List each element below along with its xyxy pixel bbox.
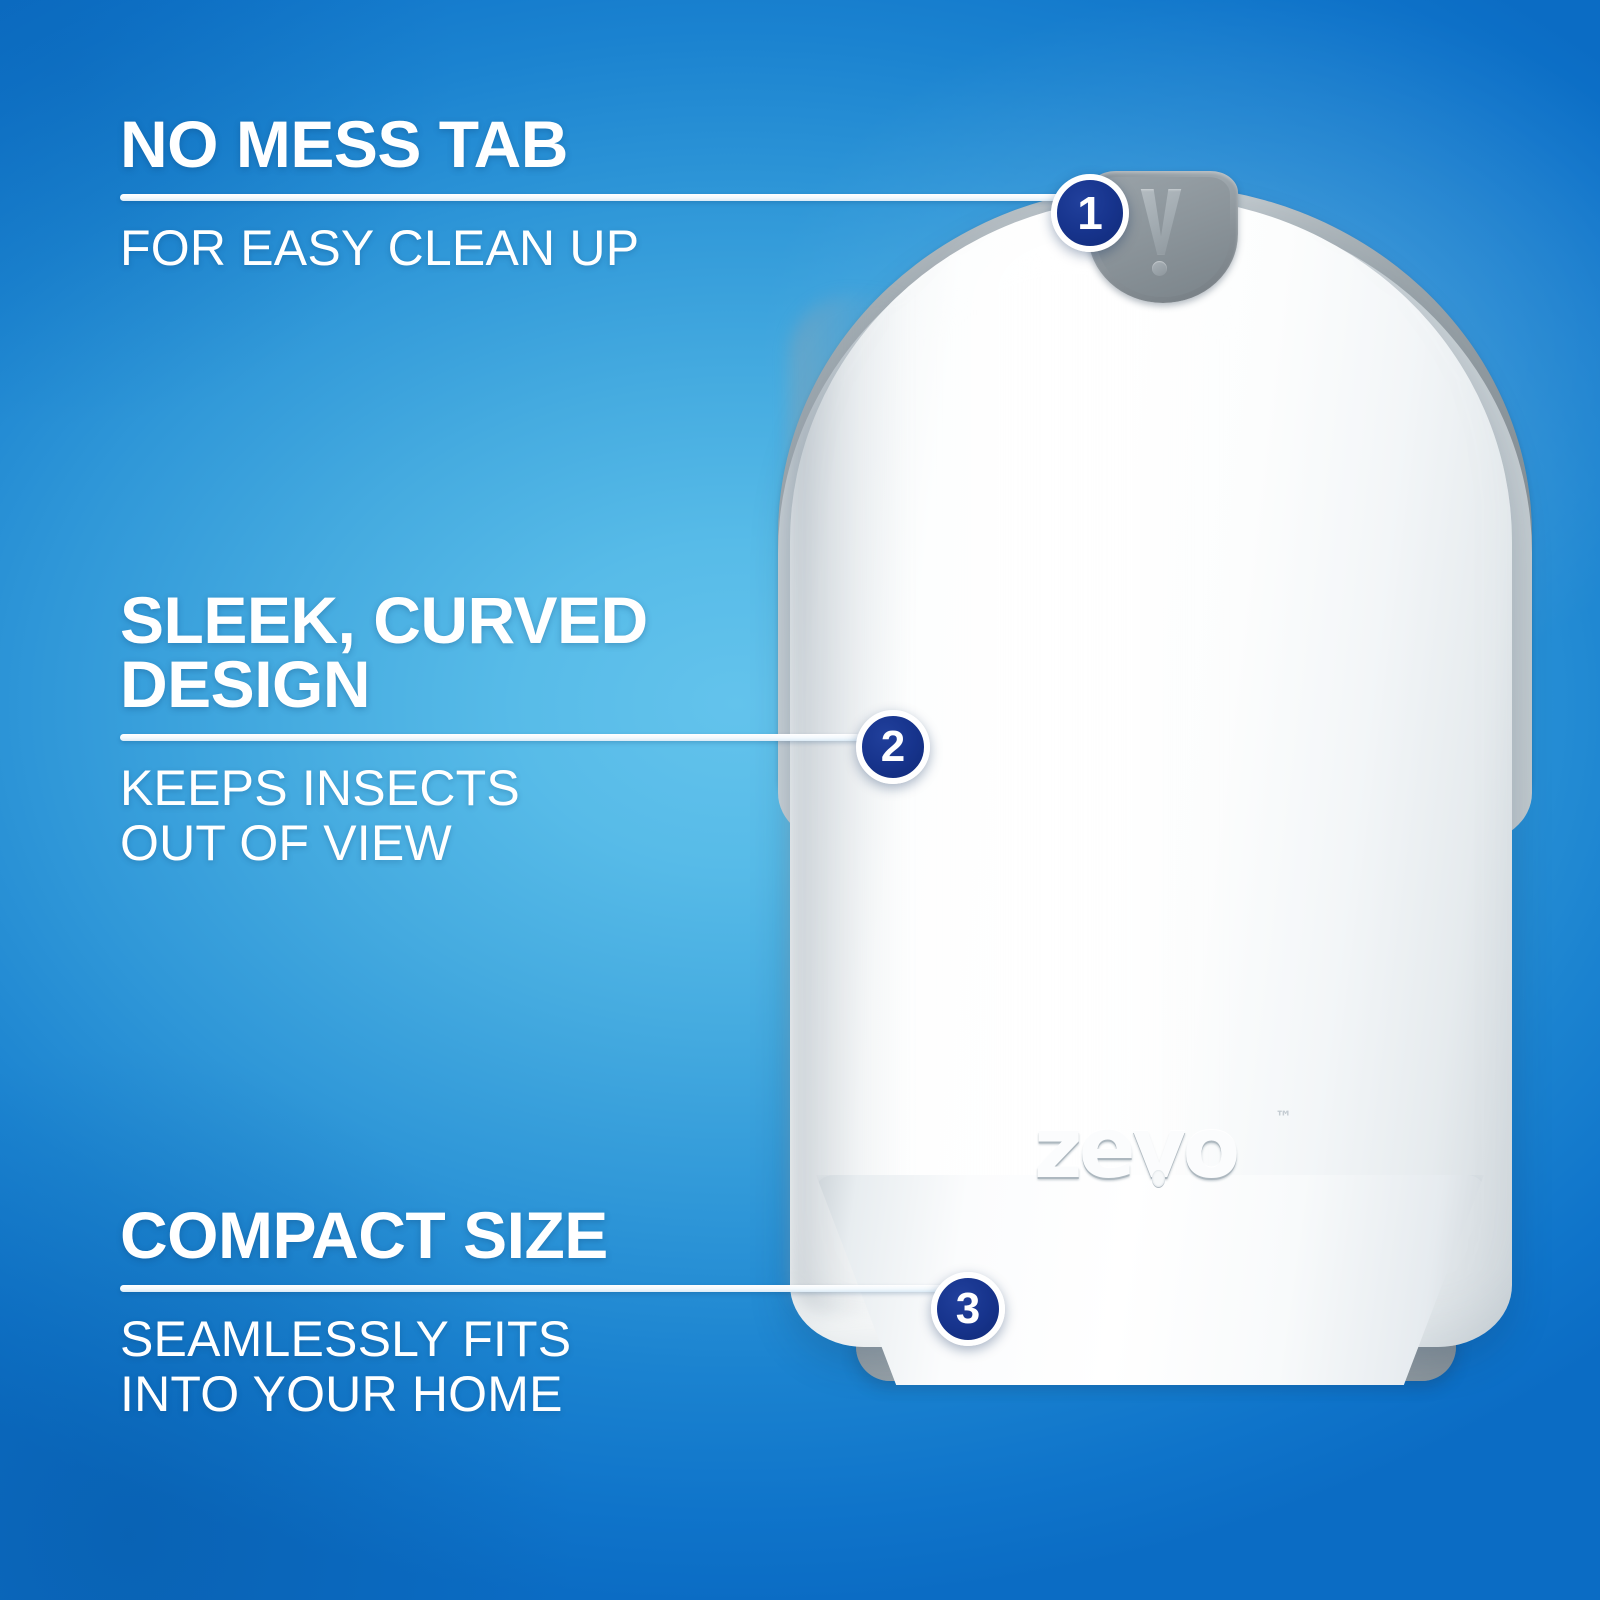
callout-block-1: NO MESS TAB FOR EASY CLEAN UP <box>120 112 1080 276</box>
zevo-drop-dot-icon <box>1152 261 1167 276</box>
callout-2-rule <box>120 734 860 741</box>
callout-1-rule <box>120 194 1080 201</box>
brand-logo-text: zevo <box>1034 1106 1236 1190</box>
callout-badge-3: 3 <box>931 1272 1005 1346</box>
callout-2-headline: SLEEK, CURVED DESIGN <box>120 588 860 716</box>
callout-block-3: COMPACT SIZE SEAMLESSLY FITS INTO YOUR H… <box>120 1203 950 1421</box>
callout-1-headline: NO MESS TAB <box>120 112 1080 176</box>
logo-drop-icon <box>1152 1170 1165 1187</box>
callout-badge-1: 1 <box>1051 174 1129 252</box>
callout-block-2: SLEEK, CURVED DESIGN KEEPS INSECTS OUT O… <box>120 588 860 870</box>
callout-3-subline: SEAMLESSLY FITS INTO YOUR HOME <box>120 1312 950 1421</box>
trademark-icon: ™ <box>1275 1108 1292 1128</box>
callout-1-subline: FOR EASY CLEAN UP <box>120 221 1080 276</box>
product-brand-logo: zevo ™ <box>970 1100 1300 1196</box>
callout-3-headline: COMPACT SIZE <box>120 1203 950 1267</box>
infographic-canvas: zevo ™ NO MESS TAB FOR EASY CLEAN UP 1 S… <box>0 0 1600 1600</box>
callout-3-rule <box>120 1285 950 1292</box>
callout-badge-2: 2 <box>856 710 930 784</box>
callout-2-subline: KEEPS INSECTS OUT OF VIEW <box>120 761 860 870</box>
